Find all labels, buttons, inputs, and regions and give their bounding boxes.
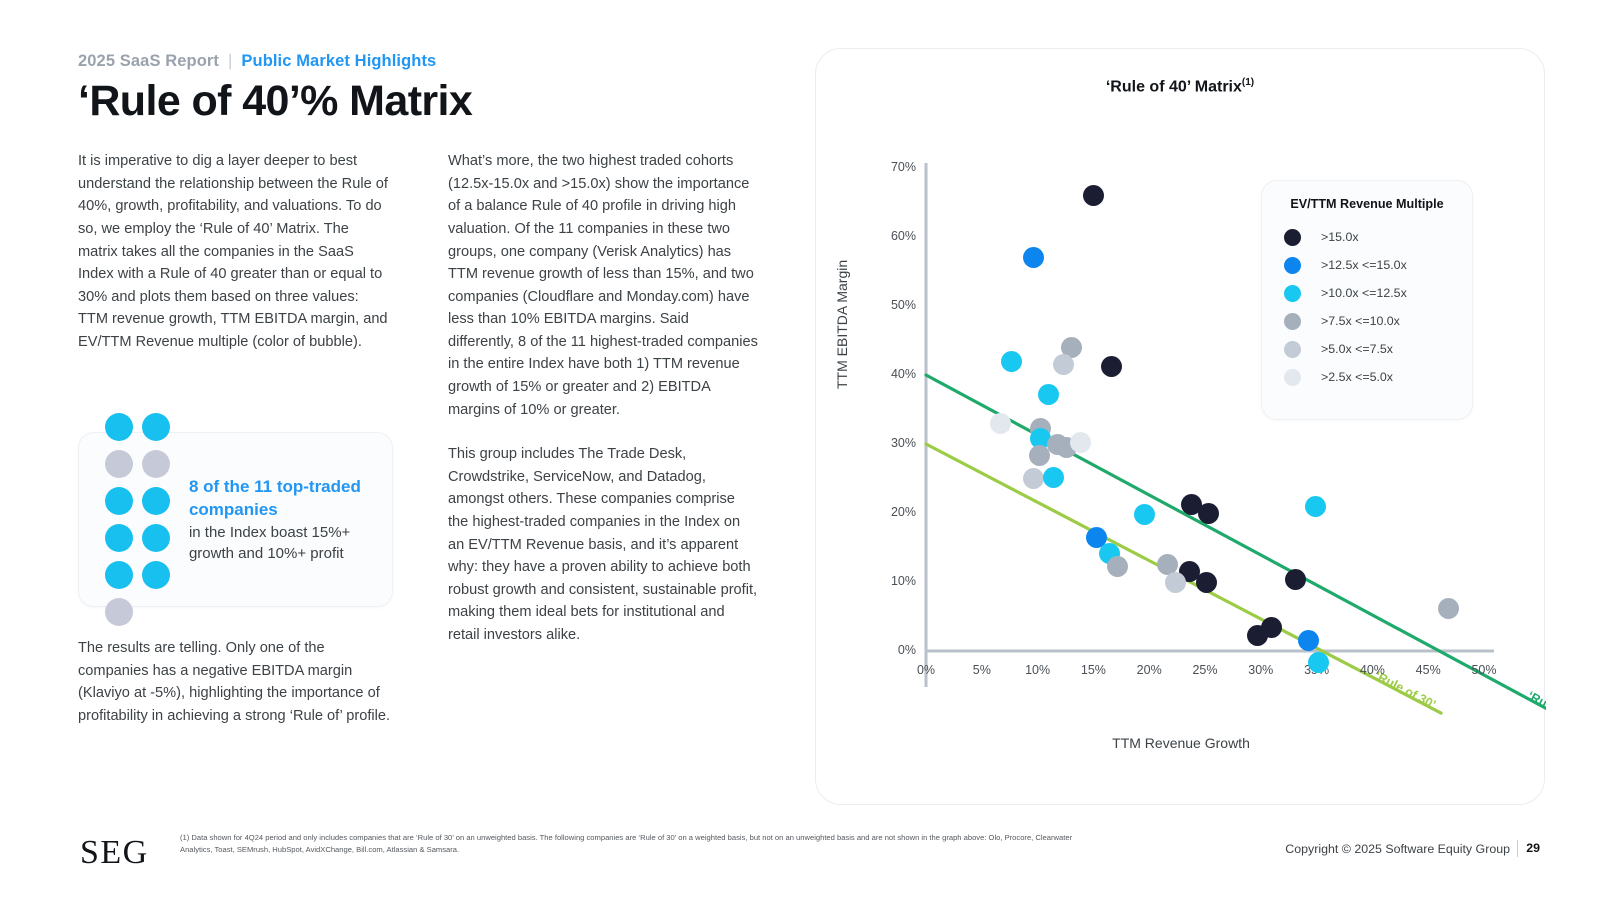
chart-legend: EV/TTM Revenue Multiple >15.0x>12.5x <=1… [1261,180,1473,420]
body-closing: The results are telling. Only one of the… [78,637,398,727]
paragraph-1: It is imperative to dig a layer deeper t… [78,150,388,353]
reference-line [926,375,1546,734]
legend-item[interactable]: >10.0x <=12.5x [1262,279,1472,307]
scatter-point [1023,468,1044,489]
x-tick-label: 50% [1462,663,1506,677]
scatter-point [1196,572,1217,593]
callout-dot [142,413,170,441]
callout-dot [142,450,170,478]
y-tick-label: 50% [868,298,916,312]
callout-dot [105,450,133,478]
legend-swatch-icon [1284,285,1301,302]
callout-dot [105,487,133,515]
x-tick-label: 40% [1350,663,1394,677]
chart-card: ‘Rule of 40’ Matrix(1) ‘Rule of 40’‘Rule… [815,48,1545,805]
paragraph-3: What’s more, the two highest traded coho… [448,150,758,421]
y-tick-label: 0% [868,643,916,657]
callout-subtext: in the Index boast 15%+ growth and 10%+ … [189,522,392,565]
scatter-point [1308,652,1329,673]
callout-box: 8 of the 11 top-traded companies in the … [78,432,393,607]
breadcrumb-divider: | [228,52,232,71]
scatter-point [1029,445,1050,466]
dot-grid [105,413,171,626]
body-column-left: It is imperative to dig a layer deeper t… [78,150,388,375]
body-column-right: What’s more, the two highest traded coho… [448,150,758,668]
scatter-point [1053,354,1074,375]
y-tick-label: 70% [868,160,916,174]
paragraph-4: This group includes The Trade Desk, Crow… [448,443,758,646]
legend-label: >10.0x <=12.5x [1321,286,1407,300]
seg-logo: SEG [80,834,149,872]
callout-headline: 8 of the 11 top-traded companies [189,475,392,521]
scatter-point [1083,185,1104,206]
legend-swatch-icon [1284,341,1301,358]
x-axis-label: TTM Revenue Growth [816,735,1546,751]
y-tick-label: 10% [868,574,916,588]
x-tick-label: 30% [1239,663,1283,677]
legend-swatch-icon [1284,369,1301,386]
scatter-point [1305,496,1326,517]
scatter-point [1001,351,1022,372]
x-tick-label: 25% [1183,663,1227,677]
article-pane: 2025 SaaS Report | Public Market Highlig… [78,52,778,812]
page-title: ‘Rule of 40’% Matrix [78,79,778,124]
footer-divider [1517,840,1518,857]
legend-item[interactable]: >15.0x [1262,223,1472,251]
scatter-point [1107,556,1128,577]
scatter-point [1043,467,1064,488]
scatter-point [1198,503,1219,524]
callout-dot [142,524,170,552]
breadcrumb: 2025 SaaS Report | Public Market Highlig… [78,52,778,71]
callout-text: 8 of the 11 top-traded companies in the … [189,475,392,565]
x-tick-label: 5% [960,663,1004,677]
legend-item[interactable]: >2.5x <=5.0x [1262,363,1472,391]
legend-item[interactable]: >12.5x <=15.0x [1262,251,1472,279]
scatter-point [1023,247,1044,268]
legend-label: >15.0x [1321,230,1359,244]
footnote-text: (1) Data shown for 4Q24 period and only … [180,832,1080,857]
breadcrumb-report: 2025 SaaS Report [78,52,219,71]
legend-label: >7.5x <=10.0x [1321,314,1400,328]
y-tick-label: 30% [868,436,916,450]
callout-dot [105,413,133,441]
plot-canvas: ‘Rule of 40’‘Rule of 30’ [816,49,1546,806]
scatter-point [1165,572,1186,593]
legend-swatch-icon [1284,313,1301,330]
y-tick-label: 40% [868,367,916,381]
scatter-point [990,413,1011,434]
scatter-point [1438,598,1459,619]
breadcrumb-section: Public Market Highlights [241,52,436,71]
callout-dot [105,524,133,552]
y-tick-label: 20% [868,505,916,519]
x-tick-label: 10% [1016,663,1060,677]
x-tick-label: 15% [1071,663,1115,677]
scatter-point [1038,384,1059,405]
legend-items: >15.0x>12.5x <=15.0x>10.0x <=12.5x>7.5x … [1262,223,1472,391]
legend-item[interactable]: >5.0x <=7.5x [1262,335,1472,363]
callout-dot [105,561,133,589]
scatter-point [1101,356,1122,377]
legend-label: >5.0x <=7.5x [1321,342,1393,356]
legend-title: EV/TTM Revenue Multiple [1262,197,1472,211]
scatter-point [1134,504,1155,525]
x-tick-label: 45% [1406,663,1450,677]
scatter-plot: ‘Rule of 40’‘Rule of 30’ TTM EBITDA Marg… [816,49,1546,806]
callout-dot [105,598,133,626]
legend-swatch-icon [1284,229,1301,246]
callout-dot [142,561,170,589]
y-tick-label: 60% [868,229,916,243]
scatter-point [1070,432,1091,453]
callout-dot [142,487,170,515]
reference-line-label: ‘Rule of 40’ [1525,689,1546,733]
x-tick-label: 20% [1127,663,1171,677]
page-number: 29 [1526,841,1540,855]
y-axis-label: TTM EBITDA Margin [834,260,850,389]
legend-item[interactable]: >7.5x <=10.0x [1262,307,1472,335]
legend-label: >2.5x <=5.0x [1321,370,1393,384]
paragraph-2: The results are telling. Only one of the… [78,637,398,727]
legend-swatch-icon [1284,257,1301,274]
copyright-text: Copyright © 2025 Software Equity Group [1285,842,1510,856]
legend-label: >12.5x <=15.0x [1321,258,1407,272]
x-tick-label: 0% [904,663,948,677]
page-footer: SEG (1) Data shown for 4Q24 period and o… [0,818,1598,900]
